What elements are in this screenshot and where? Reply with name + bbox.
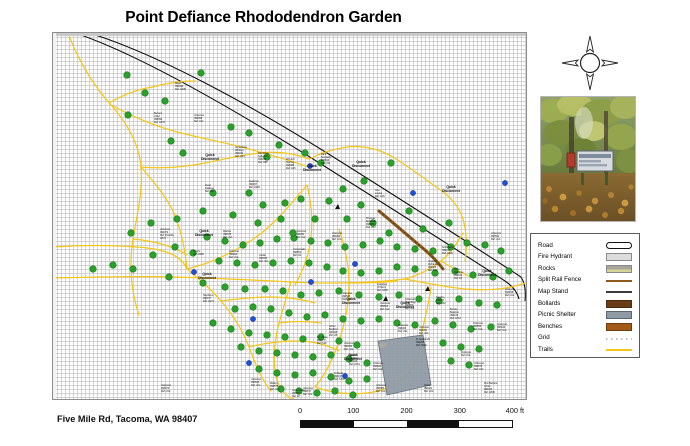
road-icon	[606, 242, 632, 250]
plant-id-label: Scintillation 096440 Ref: H600	[442, 247, 454, 256]
legend-item-label: Trails	[538, 347, 553, 353]
plant-id-label: Sappho 096437 Ref: H12	[436, 297, 445, 306]
plant-id-label: Unknown 096506 Ref: Unk	[380, 303, 390, 312]
map-legend: RoadFire HydrantRocksSplit Rail FenceMap…	[530, 233, 640, 358]
quick-disconnect-label: Quick Disconnect	[442, 185, 460, 193]
plant-id-label: Crossroads 096521 Ref: H7	[292, 390, 304, 399]
legend-symbol-glyph	[606, 335, 632, 343]
legend-item-split-rail-fence[interactable]: Split Rail Fence	[538, 275, 632, 287]
plant-id-label: Sefton 096441 Ref: Unk	[424, 385, 433, 394]
plant-id-label: Red Rose Salvation 096450 Ref: H35	[258, 153, 269, 165]
hydrant-icon	[606, 253, 632, 261]
legend-item-benches[interactable]: Benches	[538, 321, 632, 333]
plant-id-label: Jackie 096345 Ref: Unk	[259, 255, 268, 264]
legend-symbol-glyph	[606, 242, 632, 249]
legend-item-rocks[interactable]: Rocks	[538, 263, 632, 275]
plant-id-label: Unknown 096301 Ref: Unk	[419, 327, 429, 336]
quick-disconnect-label: Quick Disconnect	[478, 269, 496, 277]
legend-item-trails[interactable]: Trails	[538, 344, 632, 356]
legend-symbol-glyph	[606, 311, 632, 319]
plant-id-label: Unknown 096290 Ref: Unk	[296, 231, 306, 240]
plant-id-label: Princess Elizabeth 096909 Ref: H73	[366, 218, 376, 230]
plant-id-label: Bonnie Beatrice 096415 Ref: H712	[450, 309, 461, 321]
plant-id-label: Unknown 096458 Ref: Unk	[505, 289, 515, 298]
scale-segment	[407, 421, 460, 427]
map-address: Five Mile Rd, Tacoma, WA 98407	[57, 414, 197, 424]
legend-item-picnic-shelter[interactable]: Picnic Shelter	[538, 310, 632, 322]
scale-segment	[354, 421, 407, 427]
plant-id-label: R Lohrum 096477 Ref: S10	[317, 337, 328, 346]
legend-item-bollards[interactable]: Bollards	[538, 298, 632, 310]
legend-item-label: Road	[538, 243, 553, 249]
plant-id-label: Mrs Barbara Cross 096426 Ref: H506	[484, 383, 497, 395]
plant-id-label: Sheri's Ref: H266	[193, 251, 204, 257]
plant-id-label: Unknown 096577 Ref: Unk	[303, 388, 313, 397]
plant-id-label: Unknown 096373 Ref: Unk	[161, 385, 171, 394]
plant-id-label: Ana Louise Ref: H16	[375, 190, 384, 199]
plant-id-label: Unknown 096580 Ref: Unk	[376, 385, 386, 394]
quick-disconnect-label: Quick Disconnect	[303, 164, 321, 172]
plant-id-label: Unknown 096576 Ref: Unk	[474, 363, 484, 372]
scale-tick-label: 400 ft	[506, 406, 524, 415]
plant-id-label: Unknown 096304 Ref: Unk	[398, 325, 408, 334]
trails-icon	[606, 346, 632, 354]
legend-item-label: Fire Hydrant	[538, 254, 572, 260]
plant-id-label: Point Defiance 096440 Ref: H1	[454, 269, 463, 281]
legend-symbol-glyph	[606, 253, 632, 261]
plant-id-label: Wm E C Sterling 096380 Ref: H15	[286, 159, 295, 171]
quick-disconnect-label: Quick Disconnect	[195, 229, 213, 237]
plant-id-label: Grandeur Of Glory Ref: H430	[377, 284, 388, 293]
legend-item-label: Map Stand	[538, 289, 568, 295]
benches-icon	[606, 323, 632, 331]
legend-item-map-stand[interactable]: Map Stand	[538, 286, 632, 298]
plant-id-label: R Wardii 096347 Ref: S740	[334, 373, 345, 382]
plant-id-label: Unknown 096555 Ref: Unk	[473, 323, 483, 332]
scale-bar: 0100200300400 ft	[300, 406, 535, 440]
legend-item-grid[interactable]: Grid	[538, 333, 632, 345]
plant-id-label: Dark Simplicity 096696 Ref: H11	[321, 154, 331, 166]
page-title: Point Defiance Rhododendron Garden	[0, 9, 527, 27]
quick-disconnect-label: Quick Disconnect	[201, 153, 219, 161]
plant-id-label: Stephens 096477 Ref: H271	[203, 295, 214, 304]
plant-id-label: Unknown 096545 Ref: Unk	[342, 293, 352, 302]
plant-id-label: Crossroads 096551 Ref: H1	[293, 249, 305, 258]
mapstand-icon	[606, 288, 632, 296]
plant-id-label: Unknown 096545 Ref: Unk	[251, 379, 261, 388]
map-canvas[interactable]: Quick DisconnectQuick DisconnectQuick Di…	[52, 32, 527, 400]
plant-id-label: R. Aucklandii 096208 Ref: S002	[416, 339, 430, 348]
plant-id-label: Unknown 096373 Ref: Possibly H370	[160, 229, 174, 241]
legend-symbol-glyph	[606, 280, 632, 282]
legend-item-label: Bollards	[538, 301, 560, 307]
plant-id-label: Arthur Bedford 096498 Ref: H5	[329, 326, 337, 338]
legend-symbol-glyph	[606, 349, 632, 351]
legend-item-label: Grid	[538, 335, 550, 341]
picnic-icon	[606, 311, 632, 319]
plant-id-label: Naomi Nautilus 096444 Ref: H713	[349, 355, 360, 367]
garden-entrance-photo	[540, 96, 636, 222]
grid-icon	[606, 335, 632, 343]
plant-id-label: Unknown 096456 Ref: Unk	[344, 343, 354, 352]
plant-id-label: Road 096499 Ref: H295	[175, 83, 186, 92]
plant-id-label: Unknown 096490 Ref: Unk	[229, 251, 239, 260]
legend-symbol-glyph	[606, 291, 632, 293]
legend-symbol-glyph	[606, 300, 632, 308]
plant-id-label: Unknown 096290 Ref: Unk	[332, 233, 342, 242]
scale-bar-ticks: 0100200300400 ft	[300, 406, 535, 417]
plant-id-label: Anna Rose Whitney 096332 Ref: H24	[235, 147, 247, 159]
legend-item-label: Rocks	[538, 266, 555, 272]
scale-bar-segments	[300, 420, 513, 428]
plant-id-label: Unknown 096640 Ref: Unk	[373, 363, 383, 372]
legend-item-road[interactable]: Road	[538, 240, 632, 252]
quick-disconnect-label: Quick Disconnect	[352, 160, 370, 168]
legend-item-label: Picnic Shelter	[538, 312, 576, 318]
legend-item-label: Benches	[538, 324, 562, 330]
scale-tick-label: 200	[400, 406, 412, 415]
plant-id-label: Mallory 096578 Ref: Unk	[270, 383, 279, 392]
compass-rose-icon	[557, 32, 623, 94]
legend-item-label: Split Rail Fence	[538, 277, 581, 283]
trails-layer	[53, 36, 525, 399]
map-vector-layer	[53, 33, 526, 399]
legend-item-fire-hydrant[interactable]: Fire Hydrant	[538, 252, 632, 264]
plant-id-label: Martina 096478 Ref: Unk	[223, 231, 232, 240]
scale-tick-label: 0	[298, 406, 302, 415]
rocks-icon	[606, 265, 632, 273]
bollards-icon	[606, 300, 632, 308]
fence-icon	[606, 277, 632, 285]
scale-tick-label: 100	[347, 406, 359, 415]
plant-id-label: Unknown (Seedling) 096554 Ref: Unk	[405, 299, 416, 311]
plant-id-label: Unknown Ref: Unk	[461, 352, 471, 358]
plant-id-label: Virginia Richards 096425 Ref: Unk	[428, 261, 437, 273]
plant-id-label: Bowers Chief 096390 Ref: H278	[154, 113, 165, 125]
scale-tick-label: 300	[454, 406, 466, 415]
legend-symbol-glyph	[606, 265, 632, 273]
rocks-layer	[379, 343, 387, 348]
scale-segment	[301, 421, 354, 427]
plant-id-label: Unknown 096440 Ref: Unk	[497, 324, 507, 333]
quick-disconnect-label: Quick Disconnect	[198, 272, 216, 280]
plant-id-label: Unknown 096399 Ref: Unk	[194, 115, 204, 124]
legend-symbol-glyph	[606, 323, 632, 331]
plant-id-label: Evidoma 096457 Ref: H293	[249, 181, 260, 190]
plant-id-label: Pearl Palance Ref: H07	[205, 185, 214, 194]
plant-id-label: Unknown 096552 Ref: Unk	[491, 233, 501, 242]
scale-segment	[459, 421, 512, 427]
